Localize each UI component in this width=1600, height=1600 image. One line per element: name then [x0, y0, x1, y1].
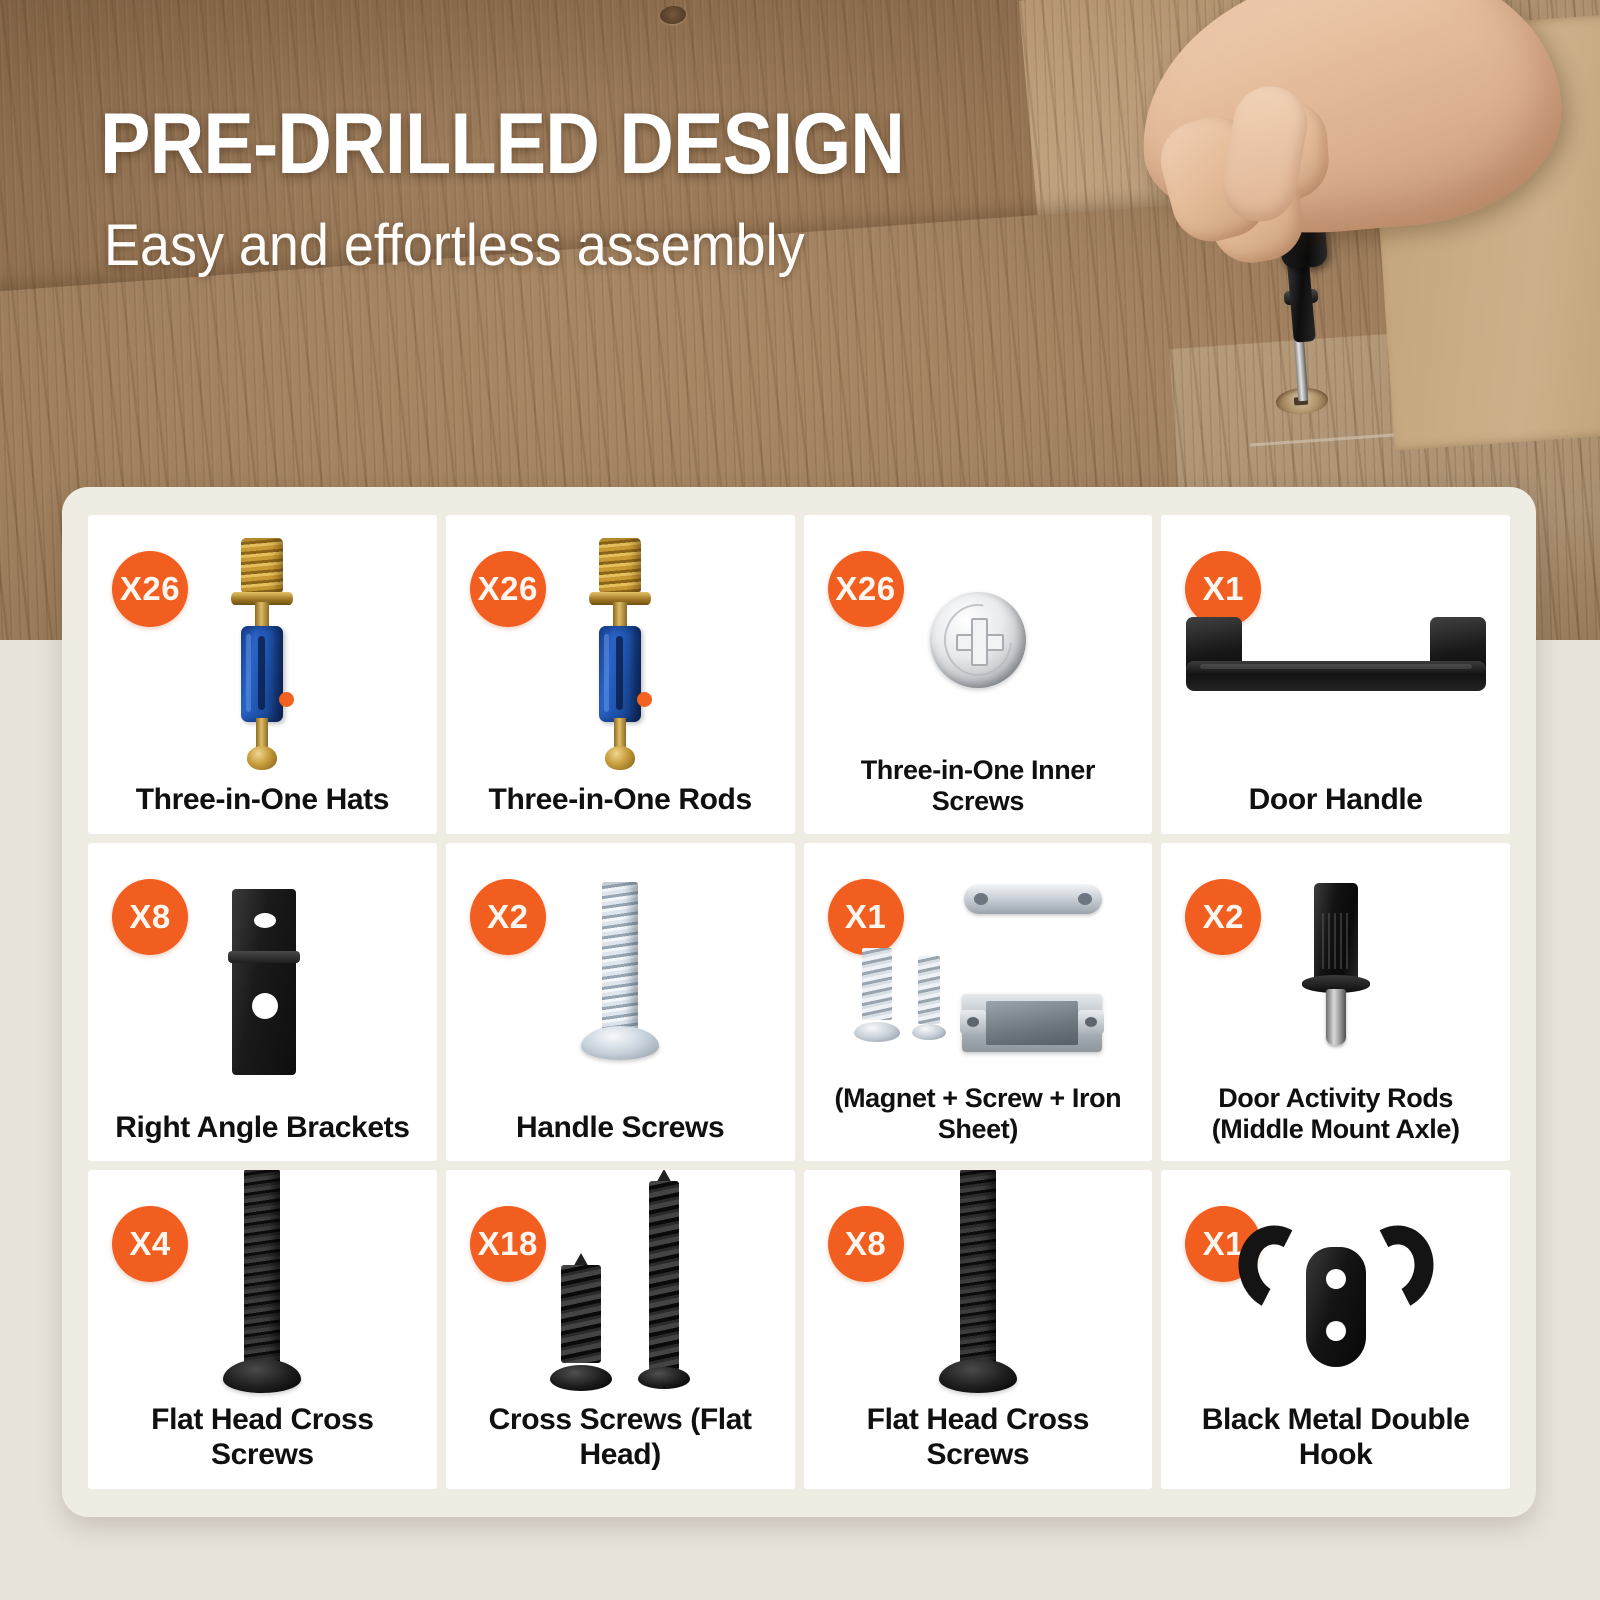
part-image — [96, 525, 429, 783]
part-image — [454, 853, 787, 1111]
part-image — [812, 525, 1145, 755]
magnet-catch-icon — [848, 878, 1108, 1058]
part-label: Right Angle Brackets — [96, 1111, 429, 1146]
part-image — [1169, 525, 1502, 783]
part-cell-cross-screws-flat-head[interactable]: X18 Cross Screws (Flat Head) — [446, 1170, 795, 1489]
part-label: Cross Screws (Flat Head) — [454, 1403, 787, 1473]
part-label: Door Activity Rods (Middle Mount Axle) — [1169, 1083, 1502, 1146]
page-title: PRE-DRILLED DESIGN — [100, 95, 904, 194]
screw-icon — [854, 948, 900, 1044]
part-image — [812, 1180, 1145, 1403]
part-cell-door-activity-rods[interactable]: X2 Door Activity Rods (Middle Mount Axle… — [1161, 843, 1510, 1162]
parts-list-panel: X26 Three-in-One Hats X26 Three-in-One R… — [62, 487, 1536, 1517]
cam-bolt-icon — [585, 538, 655, 770]
part-label: Three-in-One Inner Screws — [812, 755, 1145, 818]
pivot-rod-icon — [1300, 883, 1372, 1053]
screw-icon — [912, 956, 946, 1044]
part-cell-three-in-one-rods[interactable]: X26 Three-in-One Rods — [446, 515, 795, 834]
cam-bolt-icon — [227, 538, 297, 770]
cam-lock-disc-icon — [930, 592, 1026, 688]
magnet-body-icon — [962, 994, 1102, 1052]
assembly-photo-hand — [1080, 0, 1600, 460]
part-image — [96, 1180, 429, 1403]
part-image — [812, 853, 1145, 1083]
page-subtitle: Easy and effortless assembly — [104, 212, 805, 279]
parts-grid: X26 Three-in-One Hats X26 Three-in-One R… — [88, 515, 1510, 1489]
part-cell-right-angle-brackets[interactable]: X8 Right Angle Brackets — [88, 843, 437, 1162]
part-image — [454, 525, 787, 783]
double-hook-icon — [1241, 1217, 1431, 1367]
wood-screw-long-icon — [638, 1181, 690, 1397]
part-image — [454, 1180, 787, 1403]
part-image — [1169, 1180, 1502, 1403]
part-label: (Magnet + Screw + Iron Sheet) — [812, 1083, 1145, 1146]
part-cell-three-in-one-hats[interactable]: X26 Three-in-One Hats — [88, 515, 437, 834]
part-cell-magnet-screw-iron-sheet[interactable]: X1 (Magnet + Screw + Iron Sheet) — [804, 843, 1153, 1162]
part-label: Door Handle — [1169, 783, 1502, 818]
machine-screw-black-long-icon — [939, 1170, 1017, 1415]
part-label: Three-in-One Hats — [96, 783, 429, 818]
part-image — [96, 853, 429, 1111]
l-bracket-icon — [214, 889, 310, 1075]
part-cell-black-metal-double-hook[interactable]: X1 Black Metal Double Hook — [1161, 1170, 1510, 1489]
part-cell-door-handle[interactable]: X1 Door Handle — [1161, 515, 1510, 834]
machine-screw-icon — [581, 882, 659, 1082]
machine-screw-black-icon — [223, 1170, 301, 1415]
part-cell-flat-head-cross-screws[interactable]: X4 Flat Head Cross Screws — [88, 1170, 437, 1489]
part-label: Handle Screws — [454, 1111, 787, 1146]
bar-handle-icon — [1186, 617, 1486, 691]
iron-sheet-icon — [964, 884, 1102, 914]
part-cell-handle-screws[interactable]: X2 Handle Screws — [446, 843, 795, 1162]
wood-screw-short-icon — [550, 1265, 612, 1397]
part-cell-flat-head-cross-screws-long[interactable]: X8 Flat Head Cross Screws — [804, 1170, 1153, 1489]
part-image — [1169, 853, 1502, 1083]
part-label: Black Metal Double Hook — [1169, 1403, 1502, 1473]
part-cell-three-in-one-inner-screws[interactable]: X26 Three-in-One Inner Screws — [804, 515, 1153, 834]
part-label: Three-in-One Rods — [454, 783, 787, 818]
